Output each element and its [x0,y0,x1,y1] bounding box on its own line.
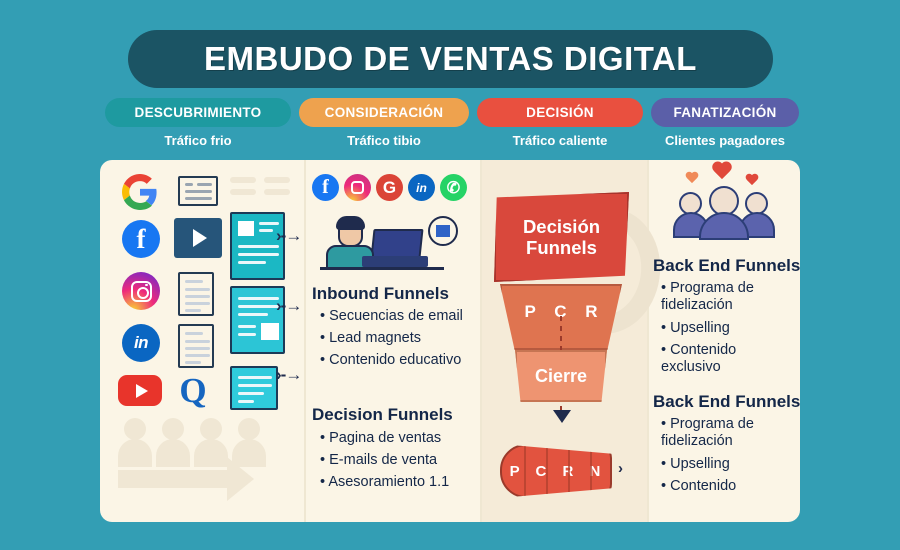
stage-sublabel-row: Tráfico frio Tráfico tibio Tráfico calie… [100,133,800,153]
funnel-top-label: DecisiónFunnels [523,216,600,259]
backend1-item-2: Contenido exclusivo [661,342,791,375]
inbound-item-1: Lead magnets [320,330,421,346]
instagram-camera-glyph [131,281,152,302]
quora-icon[interactable]: Q [174,371,212,409]
column-decision: DecisiónFunnels P C R Cierre P C R N › [482,160,647,522]
instagram-icon[interactable] [122,272,160,310]
google-icon[interactable] [122,174,158,210]
stage-label-2: DECISIÓN [526,105,594,120]
down-arrow-icon [553,410,571,423]
google-glyph: G [383,178,396,198]
decision-item-0: Pagina de ventas [320,430,441,446]
flow-arrow-marker-1: ›-→ [276,226,301,246]
flow-arrow-marker-2: ›-→ [276,296,301,316]
facebook-icon[interactable]: f [122,220,160,258]
heart-icon-small-right: .c4 .heart:nth-of-type(3)::before,.c4 .h… [745,174,759,187]
heart-icon-small-left: .c4 .heart:nth-of-type(1)::before,.c4 .h… [685,172,699,185]
column-consideracion: f G in ✆ [306,160,480,522]
funnel-stage-decision: DecisiónFunnels [494,192,629,282]
cone-tip-arrow: › [618,460,623,477]
whatsapp-glyph: ✆ [447,178,460,198]
instagram-icon[interactable] [344,174,371,201]
funnel-stage-cierre: Cierre [515,350,607,402]
google-icon[interactable]: G [376,174,403,201]
linkedin-glyph: in [134,333,148,353]
linkedin-icon[interactable]: in [408,174,435,201]
content-card-3 [230,366,278,410]
linkedin-glyph: in [416,181,427,195]
backend-funnels-heading-2: Back End Funnels [653,392,800,412]
funnel-bottom-label: Cierre [535,366,587,387]
content-panel: f in Q [100,160,800,522]
linkedin-icon[interactable]: in [122,324,160,362]
infographic-root: EMBUDO DE VENTAS DIGITAL DESCUBRIMIENTO … [0,0,900,550]
column-descubrimiento: f in Q [100,160,304,522]
decision-item-1: E-mails de venta [320,452,437,468]
heart-icon-large: .c4 .heart:nth-of-type(2)::before,.c4 .h… [711,162,733,182]
flow-arrow-large [118,470,228,488]
stage-label-3: FANATIZACIÓN [673,105,776,120]
stage-sublabel-0: Tráfico frio [105,133,291,148]
checkmark-bubble-icon [428,216,458,246]
backend2-item-0: Programa de fidelización [661,416,800,449]
page-title: EMBUDO DE VENTAS DIGITAL [204,40,697,78]
stage-pill-consideracion[interactable]: CONSIDERACIÓN [299,98,469,127]
decision-funnels-heading: Decision Funnels [312,405,453,425]
inbound-funnels-heading: Inbound Funnels [312,284,449,304]
social-icon-row: f G in ✆ [312,174,467,201]
stage-label-1: CONSIDERACIÓN [325,105,444,120]
decision-item-2: Asesoramiento 1.1 [320,474,449,490]
inbound-item-0: Secuencias de email [320,308,463,324]
facebook-glyph: f [322,176,329,199]
column-fanatizacion: .c4 .heart:nth-of-type(1)::before,.c4 .h… [649,160,800,522]
facebook-icon[interactable]: f [312,174,339,201]
backend2-item-2: Contenido [661,478,736,495]
video-thumbnail-icon [174,218,222,258]
stage-sublabel-1: Tráfico tibio [299,133,469,148]
quora-glyph: Q [179,373,206,408]
backend2-item-1: Upselling [661,456,730,473]
cone-pcrn: P C R N [500,444,612,498]
backend-funnels-heading-1: Back End Funnels [653,256,800,276]
stage-label-0: DESCUBRIMIENTO [135,105,262,120]
main-title-banner: EMBUDO DE VENTAS DIGITAL [128,30,773,88]
backend1-item-0: Programa de fidelización [661,280,800,313]
funnel-mid-label: P C R [524,302,604,322]
backend1-item-1: Upselling [661,320,730,337]
stage-sublabel-3: Clientes pagadores [651,133,799,148]
list-doc-icon-2 [178,272,214,316]
stage-pill-row: DESCUBRIMIENTO CONSIDERACIÓN DECISIÓN FA… [100,98,800,128]
stage-pill-fanatizacion[interactable]: FANATIZACIÓN [651,98,799,127]
stage-pill-descubrimiento[interactable]: DESCUBRIMIENTO [105,98,291,127]
list-doc-icon-1 [178,176,218,206]
youtube-icon[interactable] [118,375,162,406]
facebook-glyph: f [137,226,146,253]
whatsapp-icon[interactable]: ✆ [440,174,467,201]
content-card-1 [230,212,285,280]
flow-arrow-marker-3: ›-→ [276,365,301,385]
list-doc-icon-3 [178,324,214,368]
person-at-laptop-illustration [316,212,466,274]
stage-sublabel-2: Tráfico caliente [477,133,643,148]
stage-pill-decision[interactable]: DECISIÓN [477,98,643,127]
inbound-item-2: Contenido educativo [320,352,461,368]
